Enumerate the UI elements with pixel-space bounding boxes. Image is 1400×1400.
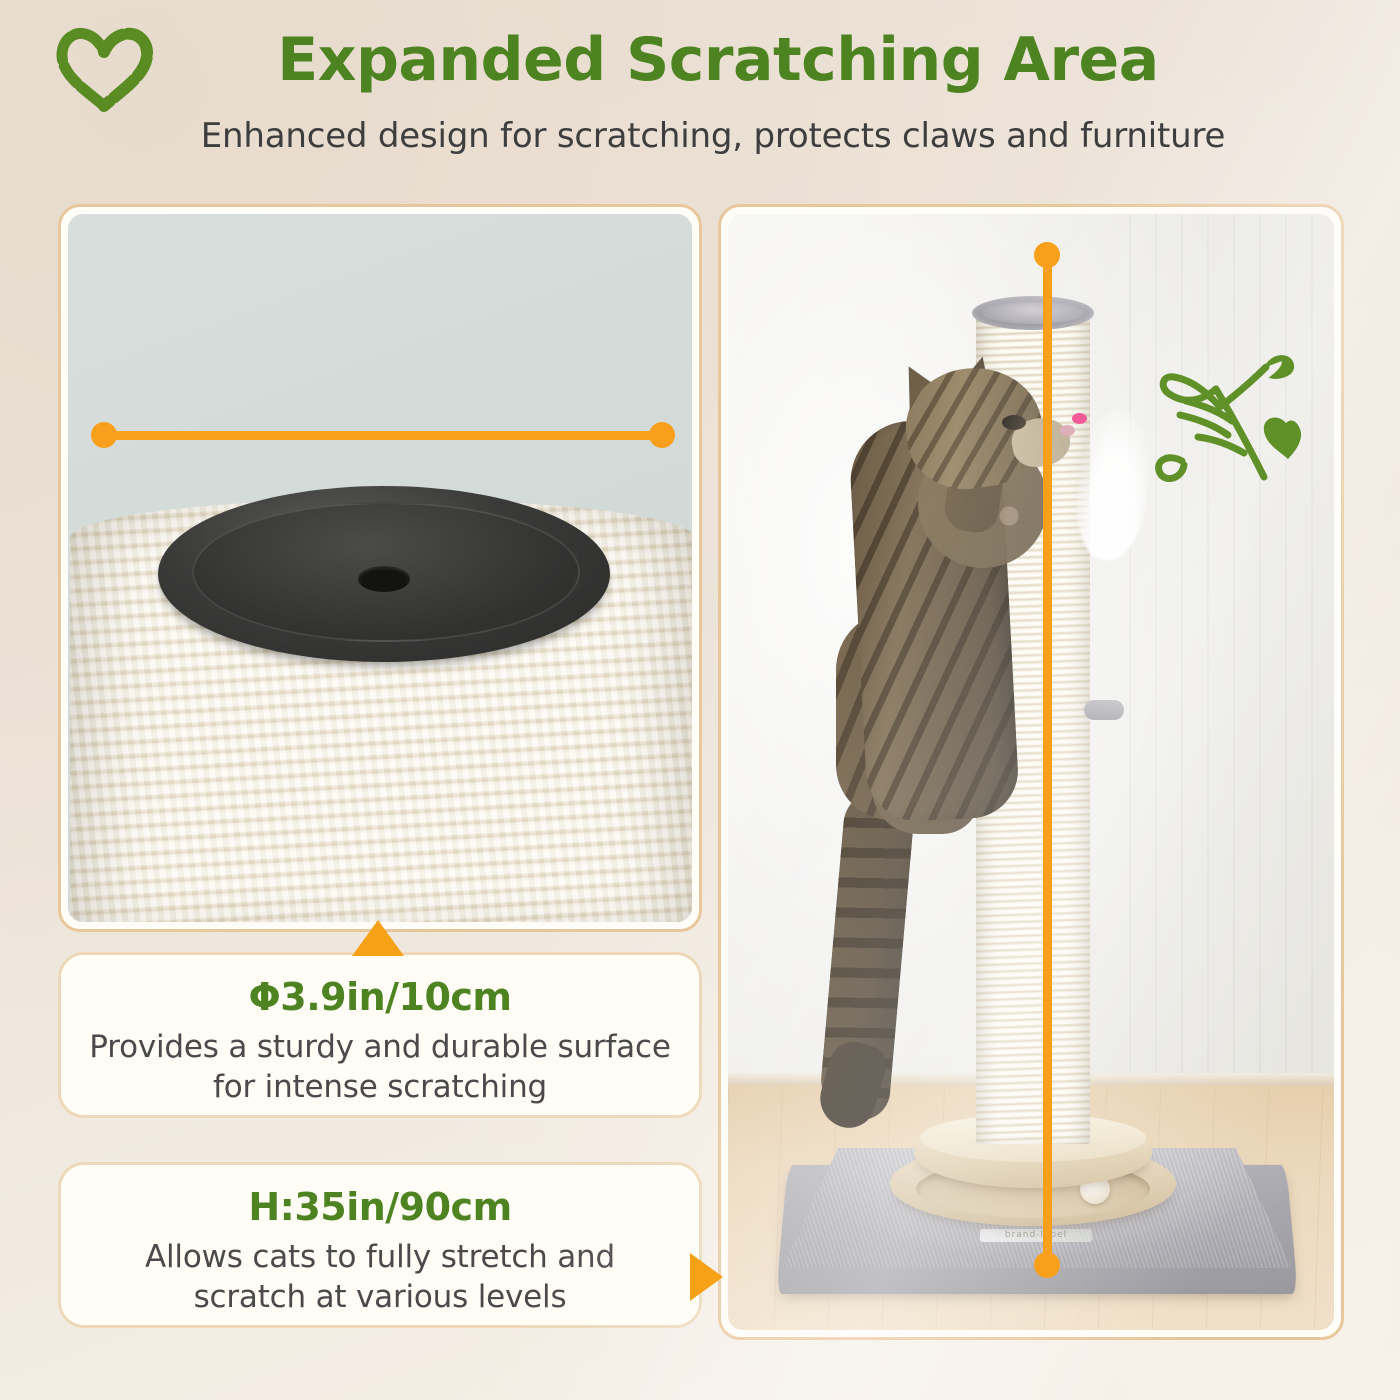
horizontal-measure-line-icon bbox=[91, 422, 675, 448]
post-top-closeup-photo bbox=[58, 204, 702, 932]
callout-card-diameter: Φ3.9in/10cm Provides a sturdy and durabl… bbox=[58, 952, 702, 1118]
vertical-measure-line-icon bbox=[1034, 242, 1060, 1278]
measure-bar bbox=[101, 431, 665, 440]
triangle-up-icon bbox=[352, 920, 404, 956]
photo-left-inner bbox=[68, 214, 692, 922]
callout-body: Allows cats to fully stretch and scratch… bbox=[87, 1237, 673, 1318]
window-blinds bbox=[1129, 214, 1334, 1094]
cat-nose bbox=[1060, 425, 1075, 436]
green-plant-heart-doodle-icon bbox=[1146, 349, 1306, 494]
callout-title: Φ3.9in/10cm bbox=[87, 977, 673, 1019]
callout-title: H:35in/90cm bbox=[87, 1187, 673, 1229]
page-title: Expanded Scratching Area bbox=[0, 28, 1400, 93]
measure-endpoint-bottom bbox=[1034, 1252, 1060, 1278]
cat-using-scratching-post-photo: brand-label bbox=[718, 204, 1344, 1340]
callout-body: Provides a sturdy and durable surface fo… bbox=[87, 1027, 673, 1108]
page-subtitle: Enhanced design for scratching, protects… bbox=[0, 116, 1400, 156]
cat-eye bbox=[1002, 415, 1026, 430]
photo-right-inner: brand-label bbox=[728, 214, 1334, 1330]
callout-card-height: H:35in/90cm Allows cats to fully stretch… bbox=[58, 1162, 702, 1328]
header: Expanded Scratching Area Enhanced design… bbox=[0, 0, 1400, 190]
measure-endpoint-right bbox=[649, 422, 675, 448]
cap-screw-hole bbox=[358, 566, 410, 592]
triangle-right-icon bbox=[690, 1253, 723, 1301]
cat bbox=[776, 320, 1116, 1120]
infographic-page: Expanded Scratching Area Enhanced design… bbox=[0, 0, 1400, 1400]
measure-bar bbox=[1043, 254, 1052, 1268]
